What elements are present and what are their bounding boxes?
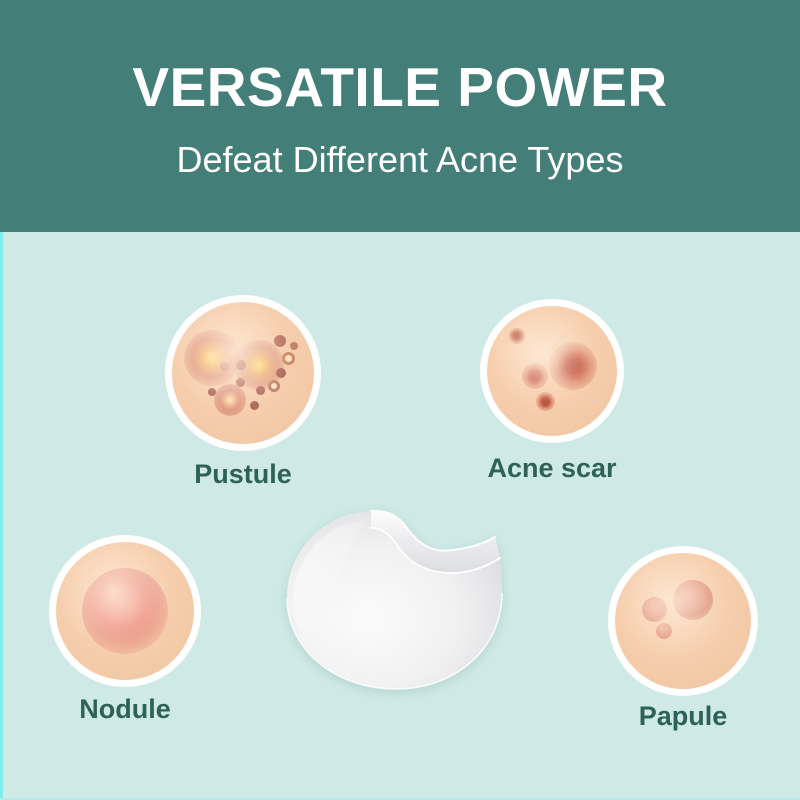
skin-circle-pustule: [172, 302, 314, 444]
comedone-spot: [250, 401, 259, 410]
pustule-spot: [184, 330, 240, 386]
sample-label-papule: Papule: [615, 701, 751, 732]
sample-label-acne-scar: Acne scar: [487, 453, 617, 484]
acne-scar-spot: [522, 363, 548, 389]
acne-patch-product: [283, 497, 505, 693]
skin-circle-nodule: [56, 542, 194, 680]
acne-scar-spot: [536, 392, 555, 411]
papule-spot: [656, 623, 672, 639]
papule-spot: [642, 597, 667, 622]
comedone-spot: [236, 360, 246, 370]
header-banner: VERSATILE POWER Defeat Different Acne Ty…: [0, 0, 800, 232]
pustule-spot: [214, 384, 246, 416]
sample-label-pustule: Pustule: [172, 459, 314, 490]
comedone-spot: [290, 342, 298, 350]
whitehead-ring-spot: [282, 352, 295, 365]
nodule-spot: [82, 568, 168, 654]
skin-circle-acne-scar: [487, 306, 617, 436]
comedone-spot: [256, 386, 265, 395]
skin-circle-papule: [615, 553, 751, 689]
sample-acne-scar: Acne scar: [487, 306, 617, 436]
comedone-spot: [208, 388, 216, 396]
sample-pustule: Pustule: [172, 302, 314, 444]
sample-nodule: Nodule: [56, 542, 194, 680]
sample-label-nodule: Nodule: [56, 694, 194, 725]
comedone-spot: [220, 362, 229, 371]
acne-scar-spot: [549, 342, 597, 390]
acne-scar-spot: [509, 328, 525, 344]
left-edge-strip: [0, 232, 3, 800]
page-title: VERSATILE POWER: [132, 60, 667, 115]
poster-canvas: VERSATILE POWER Defeat Different Acne Ty…: [0, 0, 800, 800]
page-subtitle: Defeat Different Acne Types: [177, 142, 624, 178]
comedone-spot: [274, 335, 286, 347]
sample-papule: Papule: [615, 553, 751, 689]
papule-spot: [673, 580, 713, 620]
comedone-spot: [236, 378, 245, 387]
comedone-spot: [276, 368, 286, 378]
whitehead-ring-spot: [268, 380, 280, 392]
